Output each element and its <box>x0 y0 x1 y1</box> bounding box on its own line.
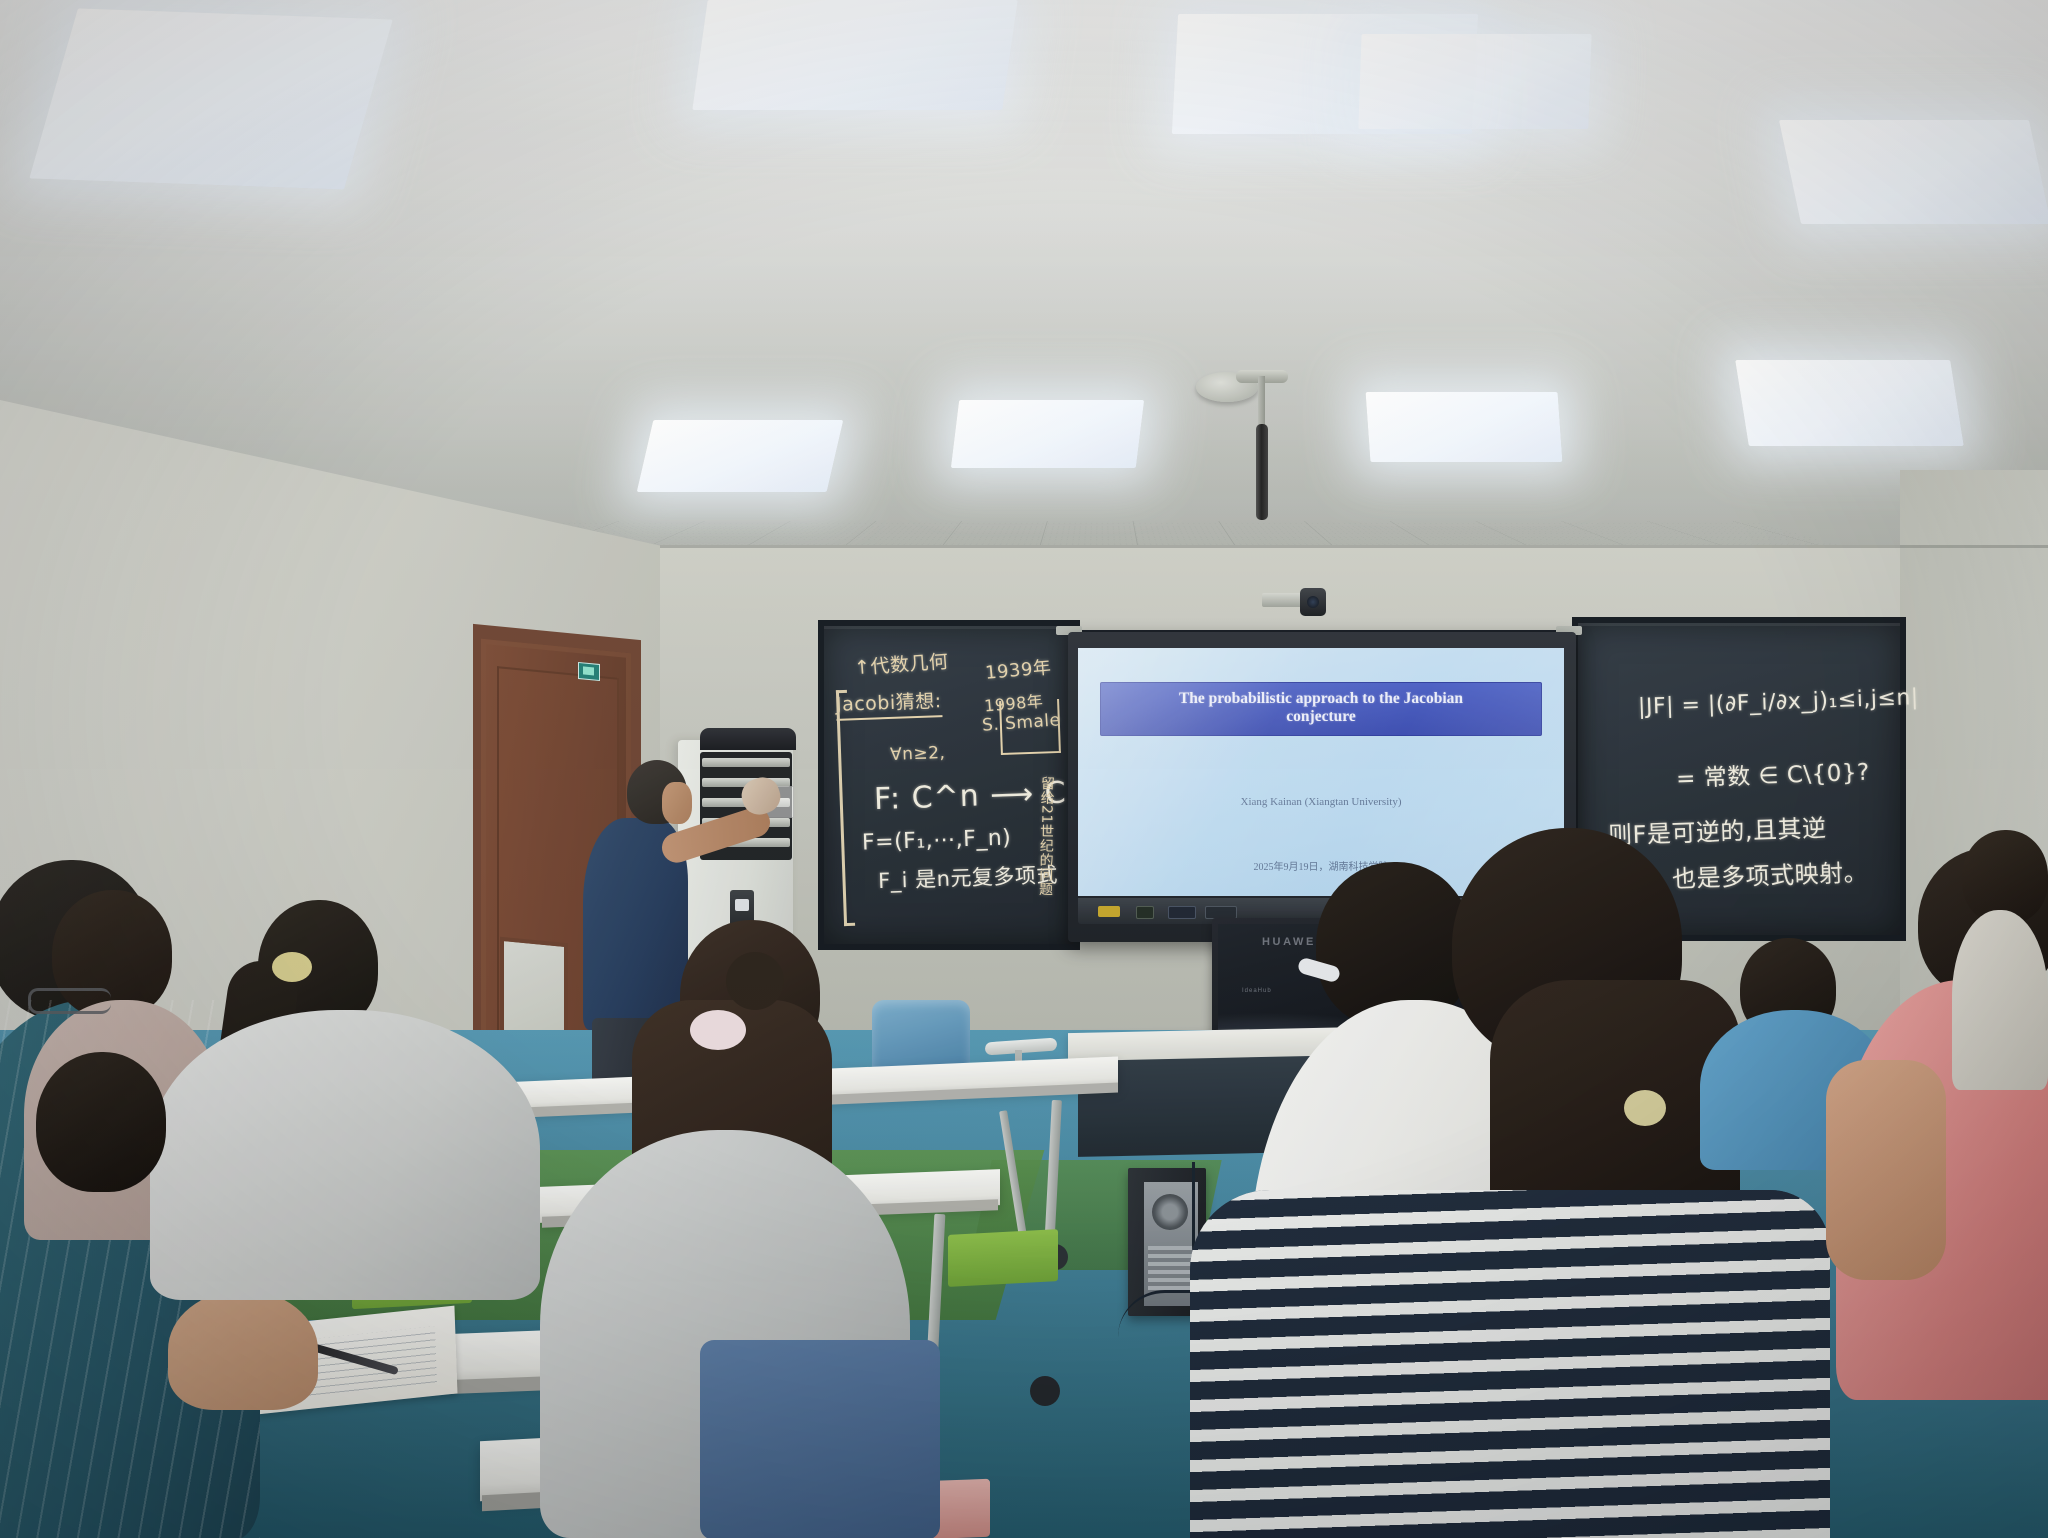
huawei-display-sublabel: IdeaHub <box>1242 988 1272 994</box>
student-arm <box>168 1290 318 1410</box>
chalk-box <box>999 699 1061 755</box>
desk-caster-wheel <box>1030 1376 1060 1406</box>
eyeglasses-icon <box>28 988 111 1014</box>
chalk-line: Jacobi猜想: <box>835 686 942 721</box>
chalk-vertical-note: 留给21世纪的问题 <box>1035 776 1057 897</box>
ceiling-light-panel <box>29 8 393 189</box>
wall-ceiling-seam <box>660 545 2048 548</box>
slide-title-line1: The probabilistic approach to the Jacobi… <box>1107 690 1535 708</box>
exit-sign-icon <box>578 662 600 681</box>
slide-title-line2: conjecture <box>1107 708 1535 726</box>
student-jeans <box>700 1340 940 1538</box>
cloth-on-ac <box>700 728 796 750</box>
ceiling-light-panel <box>1735 360 1964 446</box>
hanging-microphone-rod <box>1258 376 1265 428</box>
ceiling-light-panel <box>1779 120 2048 224</box>
camera-lens-icon <box>1307 596 1319 608</box>
pc-fan-icon <box>1152 1194 1188 1230</box>
huawei-brand-label: HUAWEI <box>1262 936 1322 948</box>
slide-title-box: The probabilistic approach to the Jacobi… <box>1100 682 1542 736</box>
chalk-line: 也是多项式映射。 <box>1671 853 1868 895</box>
desk-storage-bin <box>948 1229 1058 1287</box>
ceiling-light-panel <box>951 400 1144 468</box>
presenter-face <box>662 782 692 824</box>
ceiling-light-panel <box>1358 34 1591 129</box>
pc-rear-grill <box>1148 1246 1192 1290</box>
shirt-stripes <box>1190 1190 1830 1538</box>
chalk-line: F_i 是n元复多项式 <box>878 859 1059 895</box>
board-button-menu[interactable] <box>1168 906 1196 919</box>
ceiling-light-panel <box>1366 392 1563 462</box>
classroom-photo-scene: ↑代数几何 1939年 Jacobi猜想: 1998年 S. Smale ∀n≥… <box>0 0 2048 1538</box>
slide-author: Xiang Kainan (Xiangtan University) <box>1078 796 1564 808</box>
ceiling-light-panel <box>692 0 1017 110</box>
student-arm <box>1826 1060 1946 1280</box>
chalk-line: F=(F₁,⋯,F_n) <box>862 825 1012 855</box>
hair-tie <box>272 952 312 982</box>
ceiling-light-panel <box>637 420 844 492</box>
hair-scrunchie <box>690 1010 746 1050</box>
chalk-line: = 常数 ∈ C\{0}? <box>1675 753 1870 794</box>
board-button-input[interactable] <box>1136 906 1154 919</box>
chalk-line: ∀n≥2, <box>890 743 946 765</box>
board-button-power[interactable] <box>1098 906 1120 917</box>
blue-office-chair[interactable] <box>872 1000 970 1072</box>
hair-clip <box>1624 1090 1666 1126</box>
hanging-microphone-icon <box>1256 424 1268 520</box>
